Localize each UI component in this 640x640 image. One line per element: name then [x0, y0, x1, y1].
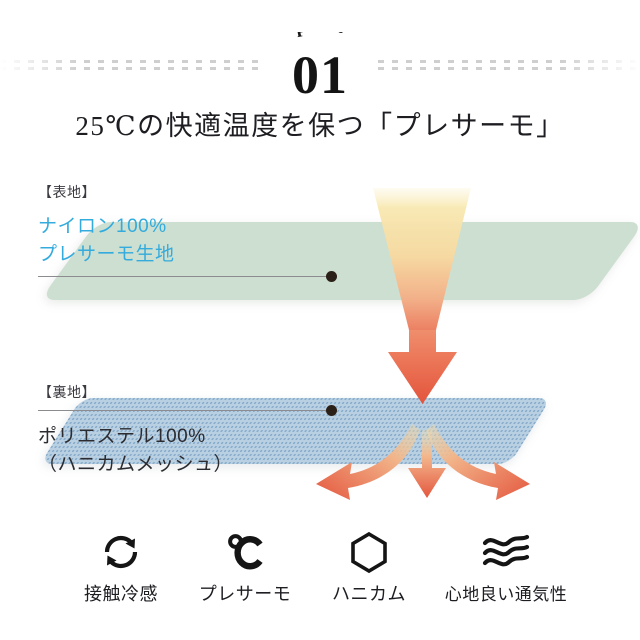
waves-icon [480, 528, 532, 576]
feature-label-honeycomb: ハニカム [332, 580, 406, 606]
top-layer-line1: ナイロン100% [38, 214, 167, 241]
feature-item-honeycomb: ハニカム [307, 528, 431, 606]
infographic-canvas: point 01 25℃の快適温度を保つ「プレサーモ」 [0, 0, 640, 640]
top-leader-line [38, 276, 330, 277]
top-layer-line2: プレサーモ生地 [38, 242, 175, 269]
main-down-arrow [388, 330, 457, 404]
cyclic-arrows-icon [98, 528, 144, 576]
svg-text:point: point [293, 32, 346, 38]
feature-item-cooling: 接触冷感 [59, 528, 183, 606]
point-number: 01 [292, 48, 348, 102]
top-leader-dot [326, 271, 337, 282]
bottom-layer-tag: 【裏地】 [38, 382, 96, 402]
hexagon-icon [346, 528, 392, 576]
bottom-leader-dot [326, 405, 337, 416]
feature-item-breathability: 心地良い通気性 [431, 528, 581, 606]
feature-label-presermo: プレサーモ [199, 580, 292, 606]
feature-item-presermo: プレサーモ [183, 528, 307, 606]
bottom-leader-line [38, 410, 330, 411]
bottom-layer-line2: （ハニカムメッシュ） [38, 452, 233, 479]
top-layer-tag: 【表地】 [38, 182, 96, 202]
point-word-text: point [293, 32, 346, 38]
feature-label-cooling: 接触冷感 [84, 580, 158, 606]
celsius-icon [222, 528, 268, 576]
page-title: 25℃の快適温度を保つ「プレサーモ」 [0, 104, 640, 143]
bottom-layer-line1: ポリエステル100% [38, 424, 206, 451]
feature-icon-row: 接触冷感 プレサーモ ハニカム [0, 528, 640, 606]
point-badge: point 01 [0, 18, 640, 98]
feature-label-breathability: 心地良い通気性 [445, 580, 568, 605]
